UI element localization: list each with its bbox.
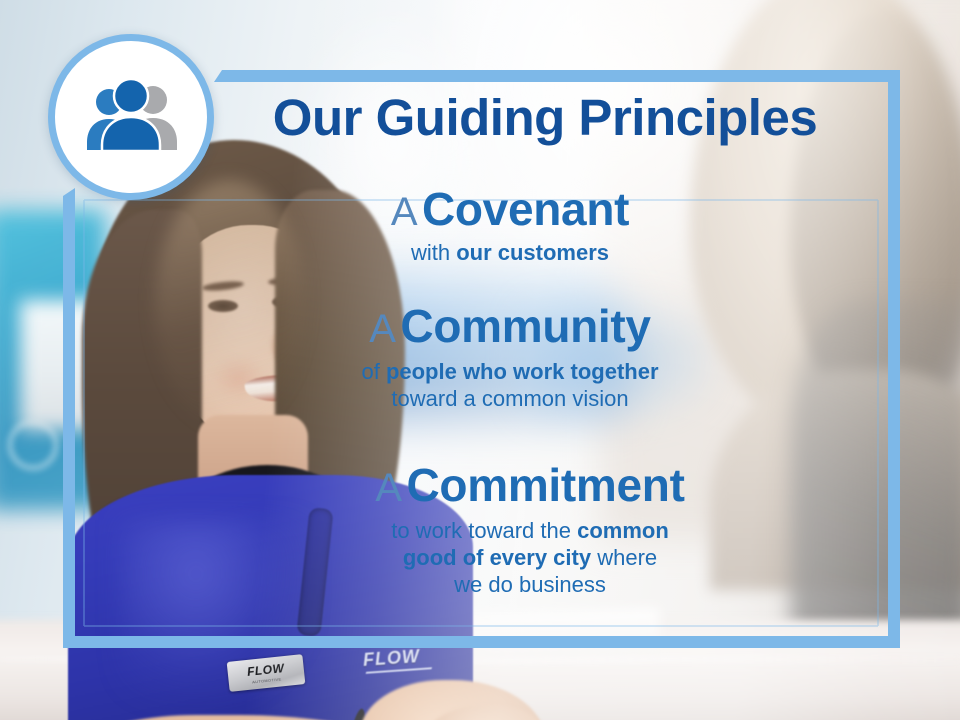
detail-span-bold: common [577, 518, 669, 543]
principle-commitment-article: A [375, 466, 402, 510]
principle-covenant: A Covenant with our customers [180, 186, 840, 267]
detail-line: toward a common vision [180, 386, 840, 413]
detail-span: with [411, 240, 456, 265]
detail-line: good of every city where [180, 545, 880, 572]
person-darkblue-head [114, 79, 148, 113]
principle-community-heading: A Community [180, 303, 840, 350]
principle-commitment-heading: A Commitment [180, 462, 880, 509]
detail-span: where [591, 545, 657, 570]
principle-community-keyword: Community [400, 300, 650, 352]
detail-span: to work toward the [391, 518, 577, 543]
people-group-icon [79, 78, 183, 156]
detail-line: to work toward the common [180, 518, 880, 545]
guiding-principles-graphic: FLOW AUTOMOTIVE FLOW [0, 0, 960, 720]
principle-commitment-keyword: Commitment [407, 459, 685, 511]
principle-community: A Community of people who work together … [180, 303, 840, 413]
detail-line: with our customers [180, 240, 840, 267]
detail-span-bold: our customers [456, 240, 609, 265]
principle-covenant-keyword: Covenant [422, 183, 629, 235]
detail-line: of people who work together [180, 359, 840, 386]
people-group-badge [48, 34, 214, 200]
detail-line: we do business [180, 572, 880, 599]
principle-community-detail: of people who work together toward a com… [180, 359, 840, 413]
principle-covenant-heading: A Covenant [180, 186, 840, 233]
principle-commitment-detail: to work toward the common good of every … [180, 518, 880, 598]
principle-commitment: A Commitment to work toward the common g… [180, 462, 880, 598]
detail-span: toward a common vision [391, 386, 628, 411]
principle-covenant-article: A [391, 190, 418, 234]
detail-span-bold: people who work together [386, 359, 659, 384]
principle-covenant-detail: with our customers [180, 240, 840, 267]
detail-span-bold: good of every city [403, 545, 591, 570]
principle-community-article: A [369, 307, 396, 351]
detail-span: we do business [454, 572, 606, 597]
detail-span: of [361, 359, 385, 384]
